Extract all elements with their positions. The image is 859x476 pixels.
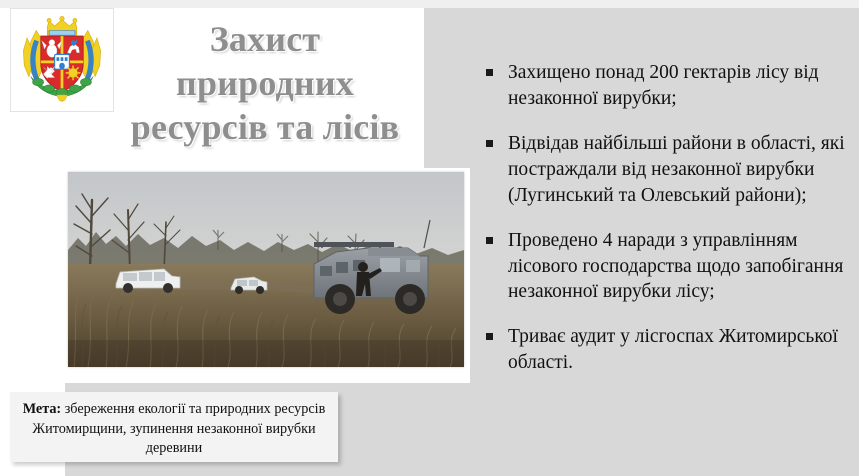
- forest-field-vehicles-photo: [68, 172, 464, 367]
- goal-body: збереження екології та природних ресурсі…: [32, 401, 325, 456]
- bullet-text: Проведено 4 наради з управлінням лісовог…: [508, 228, 852, 306]
- slide: Захист природних ресурсів та лісів: [0, 0, 859, 476]
- goal-caption-text: Мета: збереження екології та природних р…: [22, 400, 326, 459]
- below-photo-white-strip: [0, 367, 470, 383]
- bullet-text: Триває аудит у лісгоспах Житомирської об…: [508, 324, 852, 376]
- square-bullet-icon: [486, 333, 493, 340]
- top-strip: [0, 0, 859, 8]
- title-line-1: Захист: [110, 18, 420, 62]
- list-item: Відвідав найбільші райони в області, які…: [486, 131, 852, 209]
- list-item: Триває аудит у лісгоспах Житомирської об…: [486, 324, 852, 376]
- coat-of-arms-emblem: [10, 8, 114, 112]
- photo-illustration: [68, 172, 464, 367]
- bullet-list: Захищено понад 200 гектарів лісу від нез…: [486, 60, 852, 376]
- bullet-text: Захищено понад 200 гектарів лісу від нез…: [508, 60, 852, 112]
- goal-caption-box: Мета: збереження екології та природних р…: [10, 392, 338, 462]
- goal-label: Мета:: [23, 401, 61, 417]
- square-bullet-icon: [486, 140, 493, 147]
- square-bullet-icon: [486, 237, 493, 244]
- square-bullet-icon: [486, 69, 493, 76]
- title-line-3: ресурсів та лісів: [110, 106, 420, 150]
- bullet-text: Відвідав найбільші райони в області, які…: [508, 131, 852, 209]
- page-title: Захист природних ресурсів та лісів: [110, 18, 420, 150]
- list-item: Проведено 4 наради з управлінням лісовог…: [486, 228, 852, 306]
- list-item: Захищено понад 200 гектарів лісу від нез…: [486, 60, 852, 112]
- zhytomyr-coat-of-arms-icon: [16, 14, 108, 106]
- title-line-2: природних: [110, 62, 420, 106]
